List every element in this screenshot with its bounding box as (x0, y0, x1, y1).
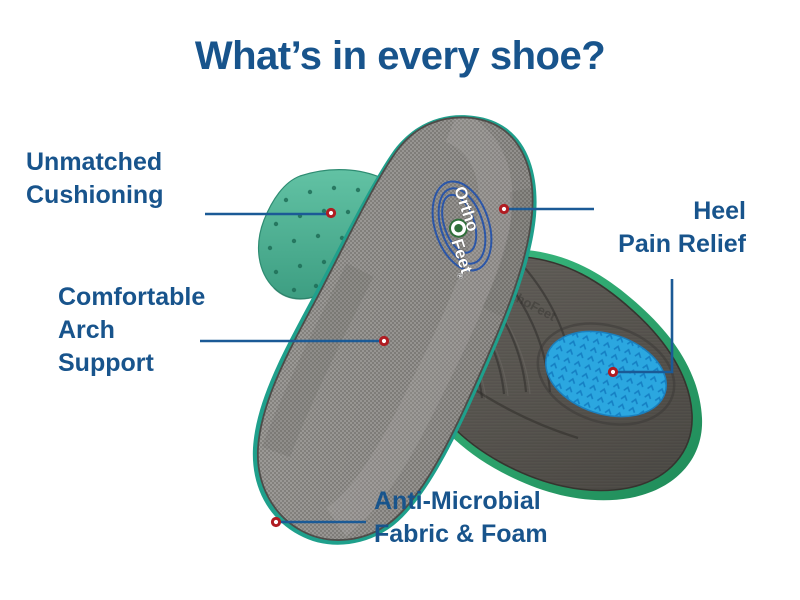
callout-label-cushioning: Unmatched Cushioning (26, 146, 163, 212)
callout-label-heel: Heel Pain Relief (618, 195, 746, 261)
callout-label-anti-microbial: Anti-Microbial Fabric & Foam (374, 485, 548, 551)
infographic-canvas: What’s in every shoe? (0, 0, 800, 600)
callout-label-arch: Comfortable Arch Support (58, 281, 205, 380)
